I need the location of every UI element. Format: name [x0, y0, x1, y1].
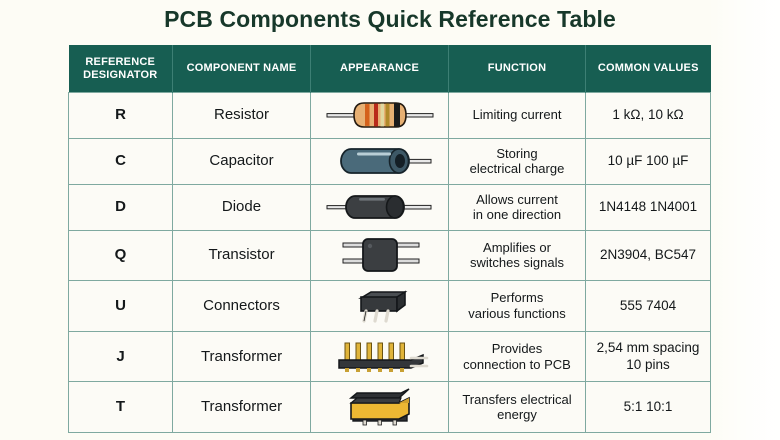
cell-reference: T [69, 382, 173, 433]
cell-function: Amplifies or switches signals [449, 230, 586, 281]
cell-function: Transfers electrical energy [449, 382, 586, 433]
page-title: PCB Components Quick Reference Table [0, 6, 780, 33]
function-line-1: Amplifies or [454, 240, 580, 256]
transformer-icon [321, 385, 439, 429]
values-line-1: 5:1 10:1 [591, 399, 705, 415]
function-line-2: energy [454, 407, 580, 423]
cell-common-values: 1 kΩ, 10 kΩ [586, 92, 711, 138]
cell-function: Storing electrical charge [449, 138, 586, 184]
function-line-1: Performs [454, 290, 580, 306]
cell-appearance [311, 281, 449, 332]
cell-reference: C [69, 138, 173, 184]
function-line-1: Transfers electrical [454, 392, 580, 408]
background-wash [708, 0, 780, 440]
values-line-1: 2,54 mm spacing [591, 340, 705, 356]
integrated-circuit-icon [321, 284, 439, 328]
cell-common-values: 1N4148 1N4001 [586, 184, 711, 230]
cell-common-values: 10 µF 100 µF [586, 138, 711, 184]
function-line-1: Storing [454, 146, 580, 162]
pin-header-icon [319, 335, 441, 379]
header-label-line2: DESIGNATOR [83, 69, 157, 82]
cell-component-name: Transformer [173, 382, 311, 433]
values-line-1: 555 7404 [591, 298, 705, 314]
values-line-1: 10 µF 100 µF [591, 153, 705, 169]
cell-appearance [311, 331, 449, 382]
cell-common-values: 555 7404 [586, 281, 711, 332]
function-line-2: in one direction [454, 207, 580, 223]
cell-reference: R [69, 92, 173, 138]
cell-reference: D [69, 184, 173, 230]
axial-resistor-icon [321, 95, 439, 135]
cell-component-name: Transformer [173, 331, 311, 382]
function-line-1: Allows current [454, 192, 580, 208]
cell-appearance [311, 184, 449, 230]
cell-appearance [311, 382, 449, 433]
table-body: R Resistor Limiting c [69, 92, 711, 433]
cell-reference: J [69, 331, 173, 382]
table-row[interactable]: T Transformer Transfe [69, 382, 711, 433]
cell-component-name: Resistor [173, 92, 311, 138]
table-row[interactable]: Q Transistor Amplifies or switches sign [69, 230, 711, 281]
values-line-1: 1N4148 1N4001 [591, 199, 705, 215]
cell-component-name: Connectors [173, 281, 311, 332]
cell-common-values: 5:1 10:1 [586, 382, 711, 433]
function-line-2: various functions [454, 306, 580, 322]
function-line-2: connection to PCB [454, 357, 580, 373]
cell-function: Allows current in one direction [449, 184, 586, 230]
values-line-1: 2N3904, BC547 [591, 247, 705, 263]
table-row[interactable]: R Resistor Limiting c [69, 92, 711, 138]
header-row: REFERENCE DESIGNATOR COMPONENT NAME APPE… [69, 45, 711, 92]
column-header-reference-designator[interactable]: REFERENCE DESIGNATOR [69, 45, 173, 92]
function-line-2: electrical charge [454, 161, 580, 177]
cell-common-values: 2,54 mm spacing 10 pins [586, 331, 711, 382]
cell-component-name: Capacitor [173, 138, 311, 184]
header-label-line1: REFERENCE [83, 56, 157, 69]
column-header-common-values[interactable]: COMMON VALUES [586, 45, 711, 92]
table-header: REFERENCE DESIGNATOR COMPONENT NAME APPE… [69, 45, 711, 92]
column-header-component-name[interactable]: COMPONENT NAME [173, 45, 311, 92]
pcb-components-table: REFERENCE DESIGNATOR COMPONENT NAME APPE… [68, 45, 711, 433]
table-row[interactable]: J Transformer [69, 331, 711, 382]
values-line-1: 1 kΩ, 10 kΩ [591, 107, 705, 123]
function-line-2: switches signals [454, 255, 580, 271]
function-line-1: Limiting current [454, 107, 580, 123]
electrolytic-capacitor-icon [321, 141, 439, 181]
cell-appearance [311, 92, 449, 138]
cell-common-values: 2N3904, BC547 [586, 230, 711, 281]
table-row[interactable]: U Connectors Performs vari [69, 281, 711, 332]
cell-function: Limiting current [449, 92, 586, 138]
cell-reference: Q [69, 230, 173, 281]
cell-component-name: Diode [173, 184, 311, 230]
cell-function: Provides connection to PCB [449, 331, 586, 382]
transistor-icon [321, 233, 439, 277]
table-row[interactable]: D Diode Allows current in one direction [69, 184, 711, 230]
cell-reference: U [69, 281, 173, 332]
column-header-appearance[interactable]: APPEARANCE [311, 45, 449, 92]
values-line-2: 10 pins [591, 357, 705, 373]
cell-appearance [311, 138, 449, 184]
cell-component-name: Transistor [173, 230, 311, 281]
function-line-1: Provides [454, 341, 580, 357]
table-row[interactable]: C Capacitor Storing electrical charge [69, 138, 711, 184]
column-header-function[interactable]: FUNCTION [449, 45, 586, 92]
axial-diode-icon [321, 187, 439, 227]
cell-appearance [311, 230, 449, 281]
reference-table-container: REFERENCE DESIGNATOR COMPONENT NAME APPE… [68, 45, 710, 433]
cell-function: Performs various functions [449, 281, 586, 332]
